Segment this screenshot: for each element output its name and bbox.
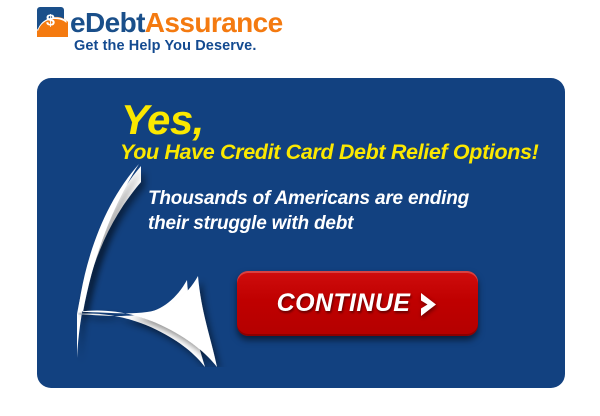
cta-container: CONTINUE <box>237 271 483 341</box>
brand-tagline: Get the Help You Deserve. <box>74 38 256 54</box>
page-header: $ eDebtAssurance Get the Help You Deserv… <box>0 0 600 70</box>
promo-subheadline: You Have Credit Card Debt Relief Options… <box>120 142 539 164</box>
continue-button[interactable]: CONTINUE <box>237 271 478 336</box>
continue-button-label: CONTINUE <box>277 289 411 318</box>
promo-panel: Yes, You Have Credit Card Debt Relief Op… <box>37 78 565 388</box>
curved-down-right-arrow-icon <box>77 162 243 367</box>
brand-logo[interactable]: $ eDebtAssurance <box>36 6 283 39</box>
dollar-badge-icon: $ <box>36 6 69 39</box>
brand-wordmark-part1: eDebt <box>70 7 145 38</box>
brand-wordmark: eDebtAssurance <box>70 9 283 37</box>
brand-wordmark-part2: Assurance <box>145 7 283 38</box>
svg-text:$: $ <box>46 13 55 30</box>
chevron-right-icon <box>419 292 438 317</box>
promo-headline: Yes, <box>121 99 204 141</box>
